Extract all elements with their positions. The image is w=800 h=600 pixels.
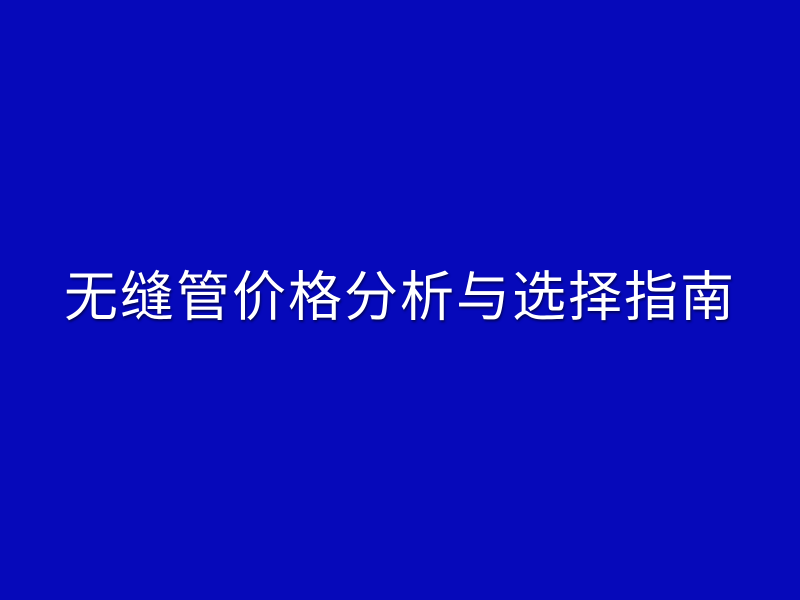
title-block: 无缝管价格分析与选择指南: [0, 268, 800, 325]
page-title: 无缝管价格分析与选择指南: [64, 268, 736, 325]
title-slide: 无缝管价格分析与选择指南: [0, 0, 800, 600]
